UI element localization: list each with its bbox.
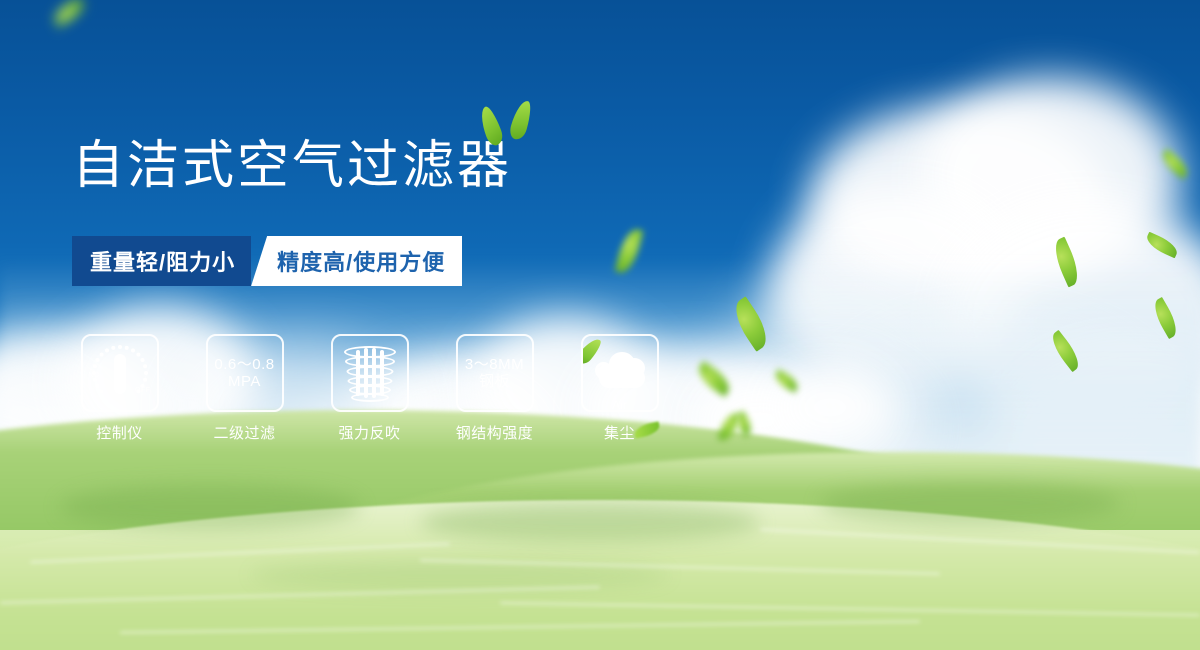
feature-icon-box: NO OFF bbox=[81, 334, 159, 412]
dial-pointer bbox=[114, 354, 126, 394]
feature-label: 集尘 bbox=[604, 422, 635, 443]
feature-icon-box: 3～8MM 钢板 bbox=[456, 334, 534, 412]
feature-icon-box bbox=[331, 334, 409, 412]
feature-icon-box: Air bbox=[581, 334, 659, 412]
feature-label: 二级过滤 bbox=[213, 422, 275, 443]
floating-leaf bbox=[50, 0, 88, 27]
air-label: Air bbox=[589, 398, 651, 412]
feature-item-secondary-filter[interactable]: 0.6～0.8 MPA 二级过滤 bbox=[197, 334, 292, 443]
feature-label: 强力反吹 bbox=[338, 422, 400, 443]
subtitle-right-panel: 精度高/使用方便 bbox=[251, 236, 462, 286]
title-block: 自洁式空气过滤器 bbox=[72, 140, 512, 192]
hero-banner: 自洁式空气过滤器 重量轻/阻力小 精度高/使用方便 bbox=[0, 0, 1200, 650]
subtitle-left-text: 重量轻/阻力小 bbox=[72, 236, 251, 286]
feature-label: 钢结构强度 bbox=[456, 422, 534, 443]
pressure-value-line1: 0.6～0.8 bbox=[214, 356, 274, 373]
steel-value-line2: 钢板 bbox=[479, 373, 510, 390]
sprout-leaf-left-icon bbox=[477, 104, 506, 147]
feature-list: NO OFF 控制仪 0.6～0.8 MPA 二级过滤 bbox=[72, 334, 667, 443]
feature-item-steel-strength[interactable]: 3～8MM 钢板 钢结构强度 bbox=[447, 334, 542, 443]
air-cloud-icon: Air bbox=[589, 346, 651, 400]
dial-off-label: OFF bbox=[135, 387, 151, 394]
sprout-leaf-right-icon bbox=[508, 99, 534, 142]
subtitle-bar: 重量轻/阻力小 精度高/使用方便 bbox=[72, 236, 462, 286]
subtitle-right-text: 精度高/使用方便 bbox=[251, 236, 462, 286]
control-dial-icon: NO OFF bbox=[89, 342, 151, 404]
feature-item-back-blow[interactable]: 强力反吹 bbox=[322, 334, 417, 443]
filter-cartridge-icon bbox=[342, 344, 398, 402]
steel-value-line1: 3～8MM bbox=[465, 356, 524, 373]
feature-icon-box: 0.6～0.8 MPA bbox=[206, 334, 284, 412]
feature-item-control-dial[interactable]: NO OFF 控制仪 bbox=[72, 334, 167, 443]
sprout-leaves-icon bbox=[477, 98, 547, 150]
page-title: 自洁式空气过滤器 bbox=[72, 140, 512, 192]
feature-label: 控制仪 bbox=[96, 422, 143, 443]
pressure-value-line2: MPA bbox=[228, 373, 261, 390]
dial-on-label: NO bbox=[89, 372, 101, 379]
